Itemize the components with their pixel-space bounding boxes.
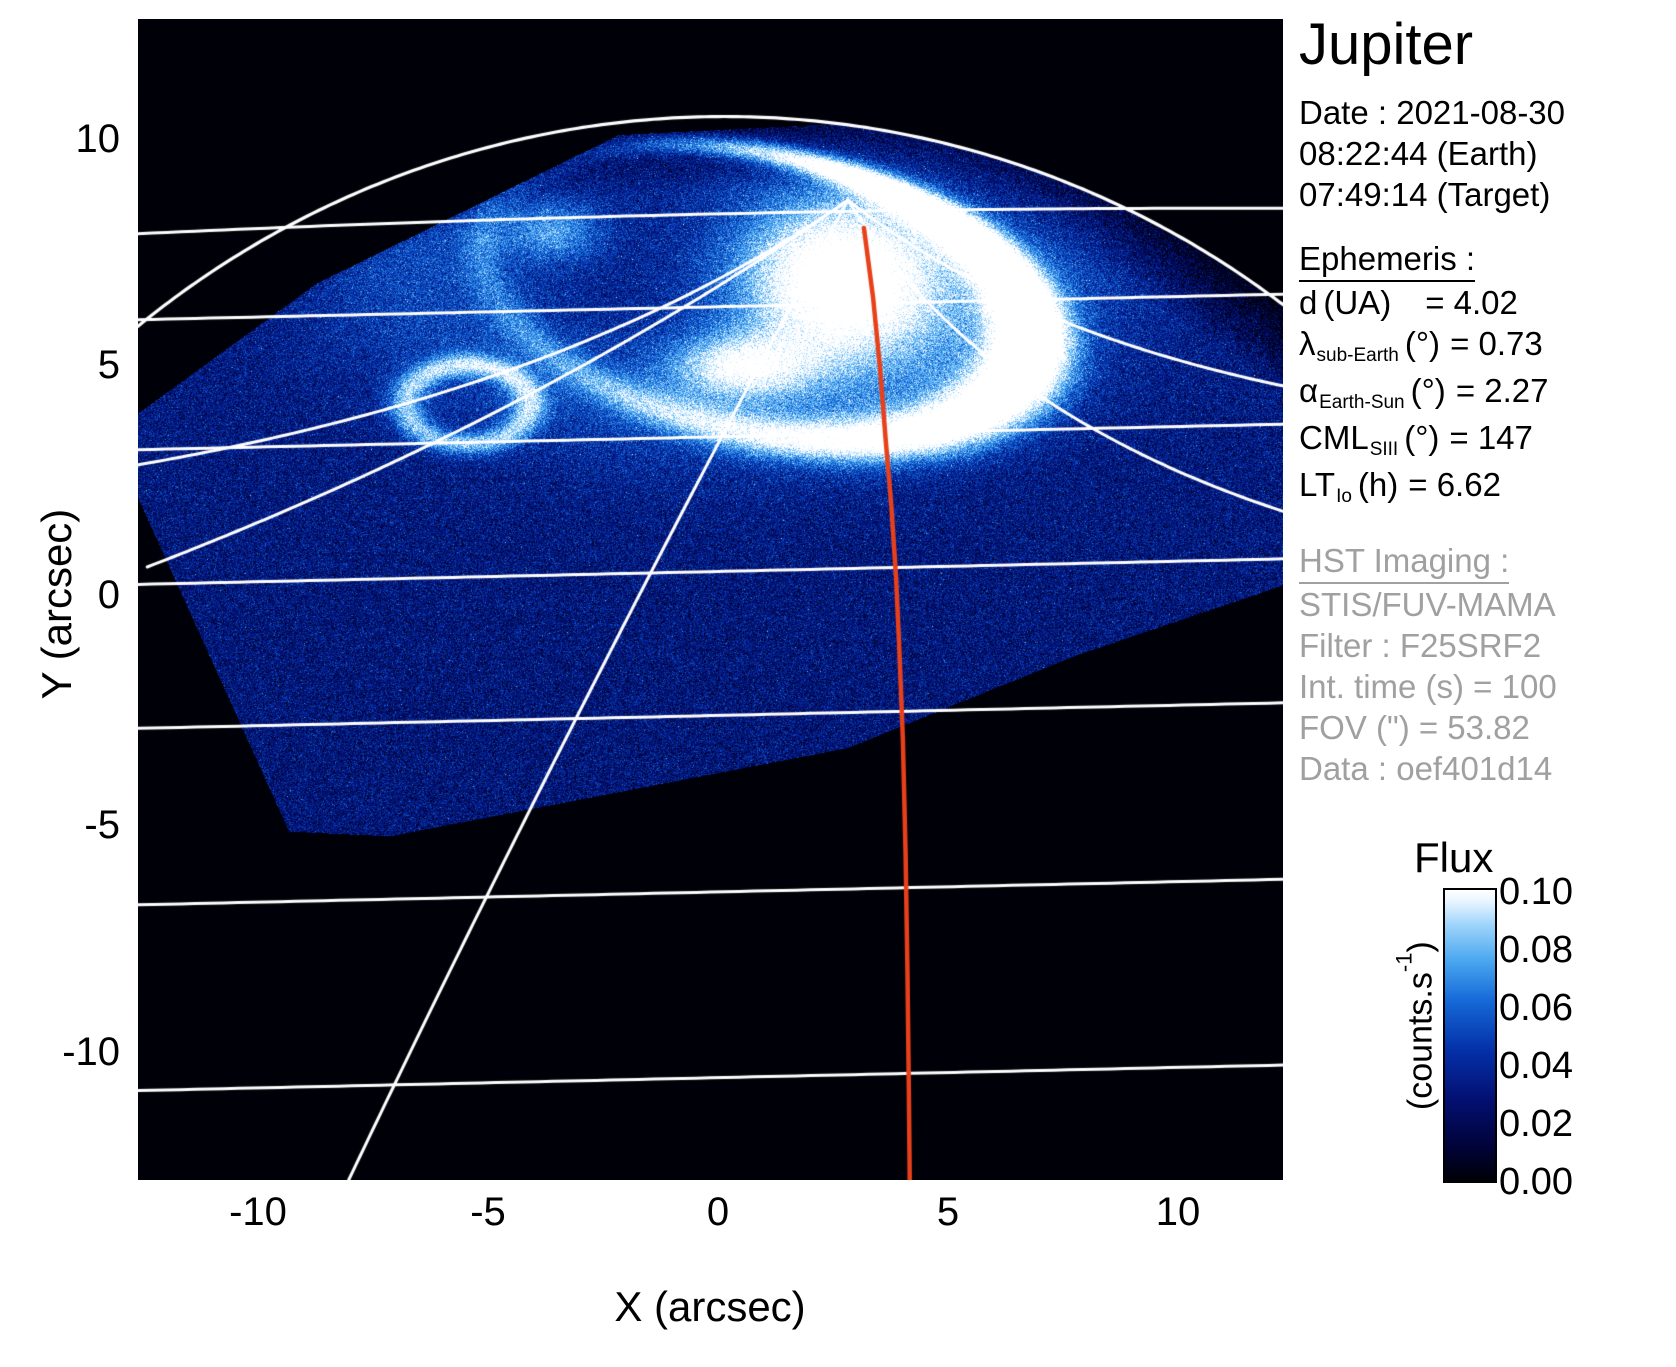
ephemeris-value-alpha: = 2.27 (1456, 370, 1549, 411)
colorbar-units-main: (counts.s (1402, 972, 1440, 1110)
observation-time-target: 07:49:14 (Target) (1299, 174, 1676, 215)
ephemeris-row-io-local-time: LT Io (h) = 6.62 (1299, 464, 1676, 511)
observation-date: Date : 2021-08-30 (1299, 92, 1676, 133)
x-tick-label-neg5: -5 (428, 1192, 548, 1232)
ephemeris-key-lambda: λ (1299, 323, 1316, 364)
ephemeris-value-d: = 4.02 (1425, 282, 1518, 323)
plot-area (138, 19, 1283, 1180)
hst-imaging-heading: HST Imaging : (1299, 541, 1509, 584)
x-tick-label-0: 0 (658, 1192, 778, 1232)
ephemeris-row-sub-earth-latitude: λ sub-Earth (°) = 0.73 (1299, 323, 1676, 370)
y-tick-label-neg10: -10 (10, 1032, 120, 1072)
ephemeris-value-lambda: = 0.73 (1450, 323, 1543, 364)
colorbar-group: Flux 0.10 0.08 0.06 0.04 0.02 0.00 (coun… (1299, 835, 1676, 1235)
x-axis-title: X (arcsec) (410, 1283, 1010, 1331)
x-tick-label-5: 5 (888, 1192, 1008, 1232)
y-tick-label-10: 10 (10, 119, 120, 159)
observation-time-earth: 08:22:44 (Earth) (1299, 133, 1676, 174)
x-tick-label-neg10: -10 (198, 1192, 318, 1232)
ephemeris-key-lt: LT (1299, 464, 1335, 505)
observation-date-block: Date : 2021-08-30 08:22:44 (Earth) 07:49… (1299, 92, 1676, 215)
ephemeris-unit-cml: (°) (1398, 417, 1439, 458)
ephemeris-key-d: d (1299, 282, 1317, 323)
colorbar-tick-0.06: 0.06 (1499, 989, 1573, 1027)
ephemeris-subscript-io: Io (1335, 476, 1352, 517)
hst-fov: FOV (") = 53.82 (1299, 707, 1676, 748)
colorbar-title: Flux (1414, 835, 1493, 881)
x-tick-label-10: 10 (1118, 1192, 1238, 1232)
jupiter-aurora-image (138, 19, 1283, 1180)
colorbar-units-exponent: -1 (1391, 953, 1416, 973)
ephemeris-block: Ephemeris : d (UA) = 4.02 λ sub-Earth (°… (1299, 239, 1676, 511)
hst-dataset-id: Data : oef401d14 (1299, 748, 1676, 789)
ephemeris-subscript-earth-sun: Earth-Sun (1318, 382, 1405, 423)
ephemeris-unit-lambda: (°) (1399, 323, 1440, 364)
hst-imaging-block: HST Imaging : STIS/FUV-MAMA Filter : F25… (1299, 541, 1676, 789)
ephemeris-value-cml: = 147 (1449, 417, 1533, 458)
ephemeris-subscript-sub-earth: sub-Earth (1316, 335, 1399, 376)
y-axis-title: Y (arcsec) (33, 454, 81, 754)
ephemeris-row-cml: CML SIII (°) = 147 (1299, 417, 1676, 464)
ephemeris-unit-d: (UA) (1317, 282, 1391, 323)
page-title: Jupiter (1299, 14, 1676, 76)
ephemeris-unit-lt: (h) (1352, 464, 1398, 505)
colorbar-axis-title: (counts.s-1) (1399, 896, 1440, 1156)
y-tick-label-neg5: -5 (10, 805, 120, 845)
colorbar-tick-0.00: 0.00 (1499, 1163, 1573, 1201)
ephemeris-row-phase-angle: α Earth-Sun (°) = 2.27 (1299, 370, 1676, 417)
ephemeris-key-cml: CML (1299, 417, 1369, 458)
ephemeris-row-distance: d (UA) = 4.02 (1299, 282, 1676, 323)
ephemeris-unit-alpha: (°) (1405, 370, 1446, 411)
ephemeris-value-lt: = 6.62 (1408, 464, 1501, 505)
colorbar-units-close: ) (1402, 941, 1440, 952)
colorbar-tick-0.08: 0.08 (1499, 931, 1573, 969)
ephemeris-heading: Ephemeris : (1299, 239, 1475, 282)
hst-integration-time: Int. time (s) = 100 (1299, 666, 1676, 707)
colorbar-tick-0.02: 0.02 (1499, 1105, 1573, 1143)
ephemeris-key-alpha: α (1299, 370, 1318, 411)
colorbar-tick-0.04: 0.04 (1499, 1047, 1573, 1085)
y-tick-label-5: 5 (10, 345, 120, 385)
hst-instrument: STIS/FUV-MAMA (1299, 584, 1676, 625)
colorbar-gradient (1443, 888, 1497, 1183)
colorbar-tick-0.10: 0.10 (1499, 873, 1573, 911)
info-panel: Jupiter Date : 2021-08-30 08:22:44 (Eart… (1299, 0, 1676, 800)
ephemeris-subscript-siii: SIII (1369, 429, 1399, 470)
hst-filter: Filter : F25SRF2 (1299, 625, 1676, 666)
